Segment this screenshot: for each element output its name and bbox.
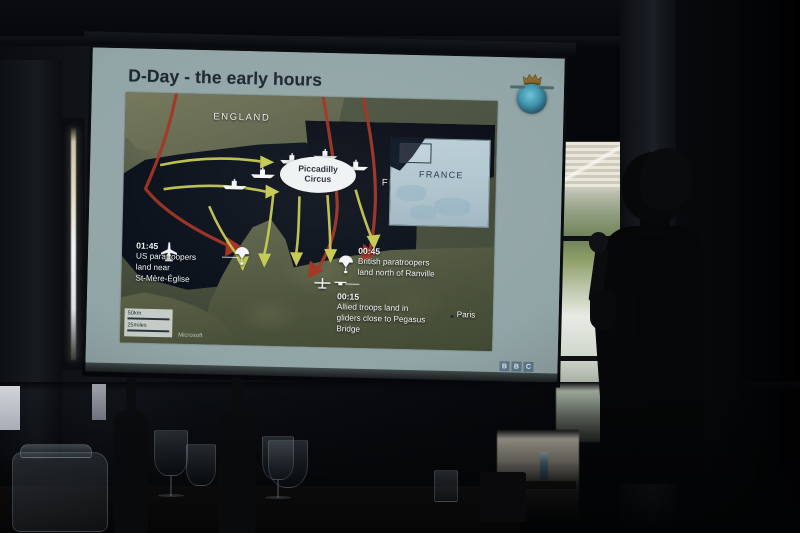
ship-icon (222, 179, 248, 191)
annotation-line: British paratroopers (358, 257, 430, 268)
bbc-letter: B (499, 361, 509, 371)
annotation-line: Allied troops land in (337, 303, 409, 314)
wine-glass (268, 440, 308, 488)
bbc-letter: B (511, 361, 521, 371)
glider-icon (313, 277, 331, 291)
bottle-neck (127, 378, 136, 414)
screen-surface: D-Day - the early hours (85, 47, 565, 382)
map-credit: Microsoft (178, 333, 202, 340)
scale-bar-line (127, 318, 169, 321)
jug-lid (20, 444, 92, 458)
menu-card (0, 386, 20, 430)
slide-title: D-Day - the early hours (128, 65, 322, 91)
inset-label-france: FRANCE (419, 169, 464, 180)
scale-imperial: 25miles (127, 323, 169, 330)
inset-terrain-blob (396, 185, 426, 202)
raf-squadron-crest-icon (514, 71, 549, 116)
annotation-line: St-Mère-Église (135, 274, 189, 284)
annotation-line: US paratroopers (136, 252, 196, 262)
annotation-us-paratroopers: 01:45 US paratroopers land near St-Mère-… (135, 241, 232, 287)
annotation-line: land north of Ranville (358, 268, 435, 279)
presenter-hair (640, 148, 692, 210)
window-light-slit (71, 128, 76, 360)
annotation-british-paratroopers: 00:45 British paratroopers land north of… (358, 246, 479, 282)
room-photo-scene: D-Day - the early hours (0, 0, 800, 533)
glass-foot (265, 496, 291, 499)
map-scale-bar: 50km 25miles (124, 308, 173, 337)
bbc-letter: C (523, 362, 533, 372)
callout-line-2: Circus (304, 175, 331, 186)
inset-terrain-blob (410, 205, 436, 220)
bottle-neck (232, 378, 242, 416)
wine-glass (154, 430, 188, 476)
scale-bar-line (127, 330, 169, 333)
wine-glass (186, 444, 216, 486)
annotation-line: gliders close to Pegasus (336, 313, 425, 324)
glass-stem (170, 476, 172, 496)
tumbler-glass (434, 470, 458, 502)
annotation-line: Bridge (336, 324, 360, 334)
annotation-gliders: 00:15 Allied troops land in gliders clos… (336, 291, 461, 338)
wine-bottle (114, 420, 148, 533)
chair-back (480, 472, 526, 522)
inset-locator-box (399, 143, 431, 164)
presentation-slide: D-Day - the early hours (85, 47, 565, 382)
map-label-paris: Paris (457, 310, 476, 321)
bbc-logo: B B C (499, 361, 533, 372)
inset-terrain-blob (434, 198, 470, 217)
microphone-head-icon (589, 232, 608, 253)
crest-wing-right (539, 86, 554, 89)
projection-screen: D-Day - the early hours (82, 44, 568, 385)
screen-frame: D-Day - the early hours (82, 44, 568, 385)
scale-metric: 50km (128, 310, 170, 317)
crest-wing-left (510, 85, 525, 88)
map-inset-panel: FRANCE (389, 138, 491, 228)
paris-marker (451, 315, 454, 318)
menu-card (92, 384, 106, 420)
dday-map: ENGLAND FRANCE (120, 92, 498, 351)
wine-bottle (218, 424, 256, 533)
parachute-icon (338, 255, 354, 273)
annotation-line: land near (136, 263, 170, 273)
glass-foot (158, 494, 184, 497)
presenter-hand (590, 290, 616, 330)
water-jug (12, 452, 108, 532)
ship-icon (250, 167, 276, 179)
